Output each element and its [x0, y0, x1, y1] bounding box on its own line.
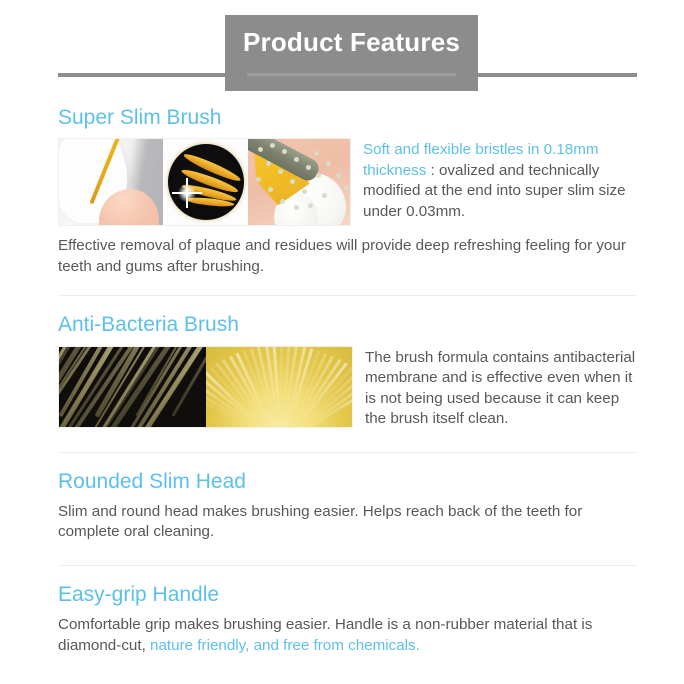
section-divider	[58, 565, 637, 566]
plaque-particle	[256, 177, 261, 182]
plaque-particle	[344, 185, 349, 190]
plaque-particle	[302, 189, 307, 194]
plaque-particle	[290, 179, 295, 184]
section-super-slim-brush: Super Slim Brush	[0, 105, 684, 277]
section-anti-bacteria-brush: Anti-Bacteria Brush The brush formula co…	[0, 312, 684, 429]
section-rounded-slim-head: Rounded Slim Head Slim and round head ma…	[0, 469, 684, 543]
page-title-underline	[247, 73, 456, 76]
plaque-particle	[294, 157, 299, 162]
section-title-easy-grip-handle: Easy-grip Handle	[58, 582, 637, 608]
plaque-particle	[316, 173, 321, 178]
section-title-anti-bacteria-brush: Anti-Bacteria Brush	[58, 312, 637, 338]
plaque-particle	[314, 151, 319, 156]
plaque-particle	[258, 147, 263, 152]
plaque-particles	[248, 139, 350, 225]
super-slim-brush-image-strip	[58, 138, 351, 226]
plaque-particle	[280, 199, 285, 204]
super-slim-brush-media-row: Soft and flexible bristles in 0.18mm thi…	[58, 138, 637, 226]
anti-bacteria-side-text: The brush formula contains antibacterial…	[365, 346, 637, 430]
easy-grip-handle-text: Comfortable grip makes brushing easier. …	[58, 615, 637, 656]
plaque-particle	[268, 187, 273, 192]
easy-grip-handle-highlight: nature friendly, and free from chemicals…	[150, 637, 420, 654]
section-divider	[58, 295, 637, 296]
page-title: Product Features	[243, 28, 460, 57]
product-features-page: Product Features Super Slim Brush	[0, 0, 684, 684]
anti-bacteria-media-row: The brush formula contains antibacterial…	[58, 346, 637, 430]
sparkle-icon	[176, 182, 198, 204]
super-slim-brush-full-text: Effective removal of plaque and residues…	[58, 236, 637, 277]
page-header: Product Features	[0, 0, 684, 105]
super-slim-brush-side-text: Soft and flexible bristles in 0.18mm thi…	[363, 138, 637, 222]
plaque-particle	[282, 149, 287, 154]
page-title-box: Product Features	[225, 15, 478, 91]
plaque-particle	[294, 205, 299, 210]
plaque-particle	[308, 203, 313, 208]
plaque-particle	[326, 161, 331, 166]
tooth-gum-bristle-image	[59, 139, 163, 225]
yellow-bristle-closeup-image	[206, 347, 352, 427]
plaque-particle	[266, 161, 271, 166]
section-title-super-slim-brush: Super Slim Brush	[58, 105, 637, 131]
plaque-particle	[336, 173, 341, 178]
brushing-teeth-image	[248, 139, 350, 225]
bristle-macro-image	[163, 139, 248, 225]
plaque-particle	[278, 169, 283, 174]
section-divider	[58, 452, 637, 453]
plaque-particle	[306, 165, 311, 170]
plaque-particle	[322, 193, 327, 198]
plaque-particle	[270, 143, 275, 148]
section-title-rounded-slim-head: Rounded Slim Head	[58, 469, 637, 495]
anti-bacteria-image-strip	[58, 346, 353, 428]
dark-bristle-closeup-image	[59, 347, 206, 427]
rounded-slim-head-text: Slim and round head makes brushing easie…	[58, 502, 637, 543]
macro-disc	[168, 144, 244, 220]
section-easy-grip-handle: Easy-grip Handle Comfortable grip makes …	[0, 582, 684, 656]
